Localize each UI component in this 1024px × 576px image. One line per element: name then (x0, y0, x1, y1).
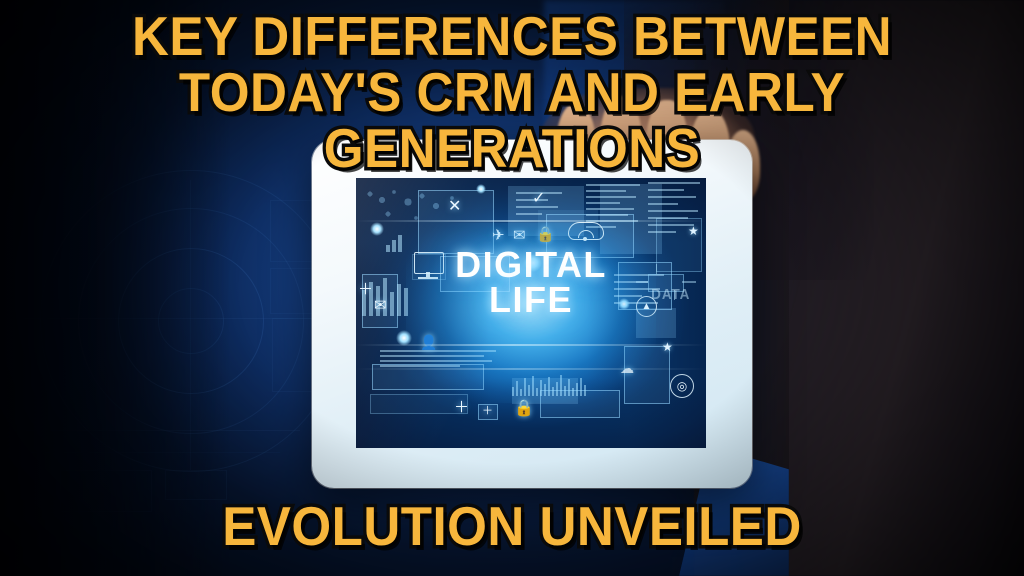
headline-line-2: TODAY'S CRM AND EARLY (36, 64, 988, 120)
headline-block: KEY DIFFERENCES BETWEEN TODAY'S CRM AND … (0, 8, 1024, 176)
subtitle-block: EVOLUTION UNVEILED (0, 498, 1024, 554)
thumbnail-canvas: ✕ ✓ ✈ ✉ 🔒 ✉ 👤 ＋ ＋ 🔒 ★ ★ ☁ ▲ ◎ ＋ (0, 0, 1024, 576)
subtitle-text: EVOLUTION UNVEILED (36, 498, 988, 554)
headline-line-3: GENERATIONS (36, 120, 988, 176)
headline-line-1: KEY DIFFERENCES BETWEEN (36, 8, 988, 64)
